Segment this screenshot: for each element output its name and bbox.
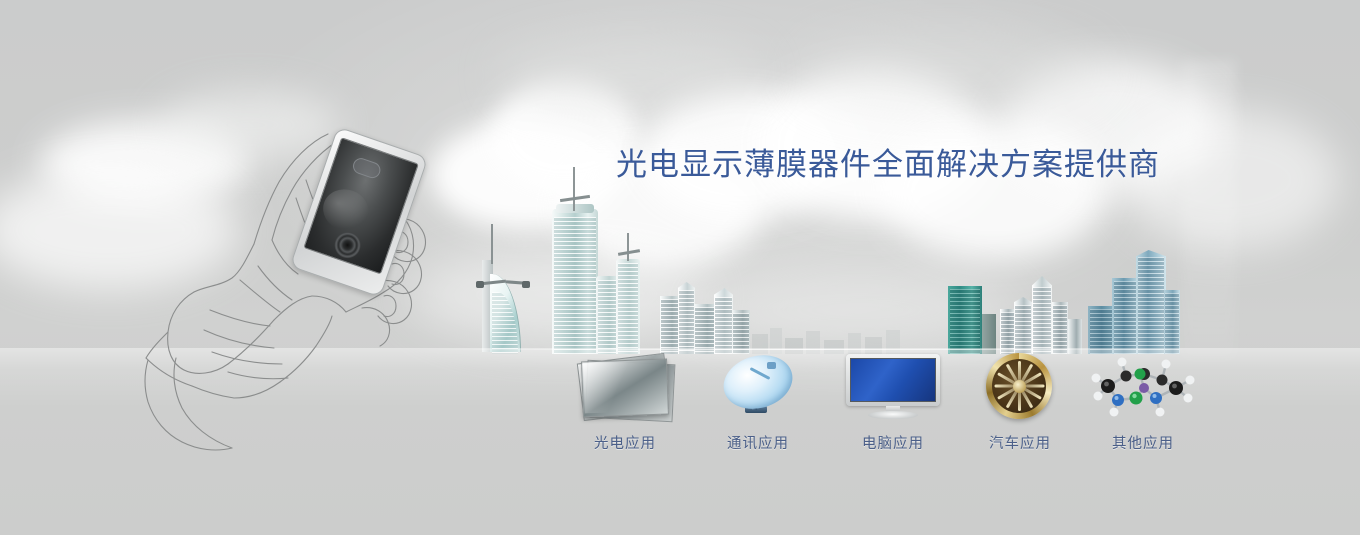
monitor-icon xyxy=(828,352,958,420)
car-wheel-icon xyxy=(955,352,1085,420)
molecule-icon xyxy=(1078,352,1208,420)
application-label: 其他应用 xyxy=(1078,432,1208,453)
building-glass-f xyxy=(694,304,716,354)
building-main-tower xyxy=(552,209,598,354)
monitor-base xyxy=(868,411,918,419)
application-label: 电脑应用 xyxy=(828,432,958,453)
building-tower-c xyxy=(616,259,640,354)
building-silver-c xyxy=(1032,276,1052,354)
wheel-rim xyxy=(986,353,1052,419)
horizon-line xyxy=(430,349,1190,350)
dish-bowl xyxy=(717,347,799,416)
building-tower-b xyxy=(596,276,618,354)
building-silver-d xyxy=(1052,302,1068,354)
building-sail-tower xyxy=(482,257,524,352)
wheel-dish xyxy=(992,359,1046,413)
monitor-screen xyxy=(850,358,936,402)
monitor-body xyxy=(846,354,940,406)
application-label: 汽车应用 xyxy=(955,432,1085,453)
building-teal-tower xyxy=(948,286,982,354)
satellite-dish-icon xyxy=(693,352,823,420)
hero-banner: 光电显示薄膜器件全面解决方案提供商 光电应用 通讯应用 xyxy=(0,0,1360,535)
application-icon-row: 光电应用 通讯应用 电脑应用 xyxy=(0,352,1360,462)
application-label: 光电应用 xyxy=(560,432,690,453)
building-blue-mid xyxy=(1112,278,1138,354)
building-glass-d xyxy=(660,296,680,354)
building-blue-tall xyxy=(1136,250,1166,354)
building-blue-slim xyxy=(1164,290,1180,354)
wheel-hub xyxy=(1013,380,1026,393)
building-glass-g xyxy=(714,288,733,354)
building-silver-b xyxy=(1014,297,1032,354)
application-item-other[interactable]: 其他应用 xyxy=(1078,352,1208,453)
application-item-communication[interactable]: 通讯应用 xyxy=(693,352,823,453)
molecule-svg xyxy=(1078,352,1208,420)
application-item-optoelectronic[interactable]: 光电应用 xyxy=(560,352,690,453)
film-stack-icon xyxy=(560,352,690,420)
building-glass-e xyxy=(678,282,695,354)
page-title: 光电显示薄膜器件全面解决方案提供商 xyxy=(616,139,1160,184)
dish-lnb xyxy=(767,362,776,369)
application-item-computer[interactable]: 电脑应用 xyxy=(828,352,958,453)
application-item-automotive[interactable]: 汽车应用 xyxy=(955,352,1085,453)
application-label: 通讯应用 xyxy=(693,432,823,453)
screen-glint xyxy=(317,183,374,237)
